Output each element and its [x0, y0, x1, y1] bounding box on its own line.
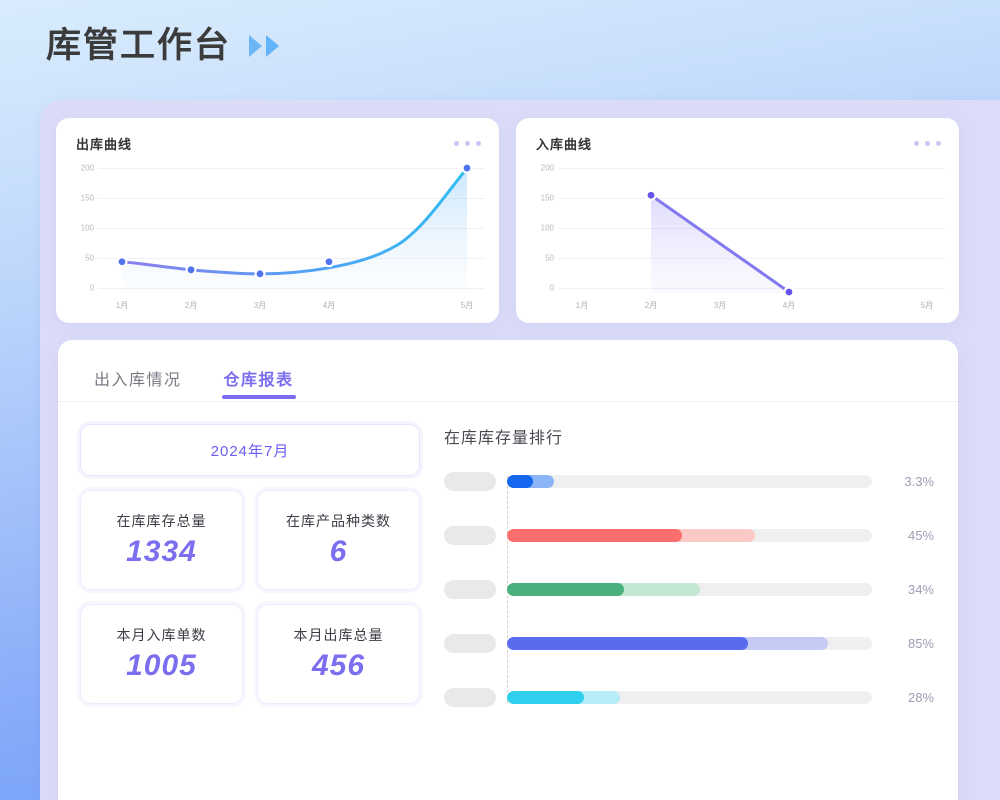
tab-bar: 出入库情况 仓库报表 — [58, 340, 958, 402]
page-title: 库管工作台 — [46, 28, 231, 63]
y-tick-label: 100 — [530, 224, 554, 233]
more-dots-icon[interactable] — [914, 141, 941, 146]
list-item[interactable]: 34% — [444, 576, 934, 603]
chart-header: 出库曲线 — [70, 134, 485, 153]
more-dots-icon[interactable] — [454, 141, 481, 146]
y-tick-label: 150 — [530, 194, 554, 203]
stat-card-total-stock[interactable]: 在库库存总量 1334 — [80, 490, 243, 590]
inbound-plot: 200 150 100 50 0 — [530, 164, 945, 309]
list-item[interactable]: 45% — [444, 522, 934, 549]
y-tick-label: 200 — [530, 164, 554, 173]
y-tick-label: 0 — [70, 284, 94, 293]
arrow-right-icon — [266, 35, 279, 57]
y-tick-label: 50 — [70, 254, 94, 263]
outbound-chart-card: 出库曲线 200 150 100 50 0 — [56, 118, 499, 323]
x-tick-label: 1月 — [116, 300, 128, 311]
x-tick-label: 2月 — [645, 300, 657, 311]
rank-percent: 85% — [884, 636, 934, 651]
tab-inout-status[interactable]: 出入库情况 — [94, 366, 182, 402]
stat-label: 在库产品种类数 — [286, 511, 391, 531]
progress-dark-segment — [507, 691, 584, 704]
list-item[interactable]: 85% — [444, 630, 934, 657]
x-tick-label: 3月 — [714, 300, 726, 311]
period-selector[interactable]: 2024年7月 — [80, 424, 420, 476]
progress-track — [507, 583, 872, 596]
outbound-plot: 200 150 100 50 0 — [70, 164, 485, 309]
chart-title: 出库曲线 — [76, 134, 132, 153]
stat-card-inbound-orders[interactable]: 本月入库单数 1005 — [80, 604, 243, 704]
stat-label: 本月入库单数 — [117, 625, 207, 645]
stat-card-product-types[interactable]: 在库产品种类数 6 — [257, 490, 420, 590]
tab-warehouse-report[interactable]: 仓库报表 — [224, 366, 294, 402]
charts-row: 出库曲线 200 150 100 50 0 — [56, 118, 959, 323]
stat-value: 6 — [330, 535, 348, 569]
report-panel: 出入库情况 仓库报表 2024年7月 在库库存总量 1334 在库产品种类数 6 — [58, 340, 958, 800]
y-tick-label: 200 — [70, 164, 94, 173]
list-item[interactable]: 28% — [444, 684, 934, 711]
arrow-right-icon — [249, 35, 262, 57]
stat-label: 本月出库总量 — [294, 625, 384, 645]
x-tick-label: 4月 — [323, 300, 335, 311]
list-item[interactable]: 3.3% — [444, 468, 934, 495]
progress-track — [507, 529, 872, 542]
rank-label-placeholder — [444, 688, 496, 707]
stat-label: 在库库存总量 — [117, 511, 207, 531]
progress-dark-segment — [507, 529, 682, 542]
rank-label-placeholder — [444, 580, 496, 599]
progress-track — [507, 637, 872, 650]
progress-dark-segment — [507, 583, 624, 596]
ranking-column: 在库库存量排行 3.3% — [420, 424, 958, 711]
x-tick-label: 5月 — [921, 300, 933, 311]
inbound-chart-card: 入库曲线 200 150 100 50 0 — [516, 118, 959, 323]
progress-track — [507, 691, 872, 704]
progress-dark-segment — [507, 475, 533, 488]
stats-column: 2024年7月 在库库存总量 1334 在库产品种类数 6 本月入库单数 100… — [80, 424, 420, 711]
chart-header: 入库曲线 — [530, 134, 945, 153]
inbound-line-svg — [558, 164, 945, 293]
rank-label-placeholder — [444, 634, 496, 653]
stat-value: 1005 — [126, 649, 197, 683]
rank-percent: 28% — [884, 690, 934, 705]
x-tick-label: 1月 — [576, 300, 588, 311]
tab-divider — [58, 401, 958, 402]
double-right-arrow-icon[interactable] — [249, 35, 279, 57]
x-tick-label: 4月 — [783, 300, 795, 311]
page-header: 库管工作台 — [46, 28, 279, 63]
stat-card-outbound-total[interactable]: 本月出库总量 456 — [257, 604, 420, 704]
x-tick-label: 2月 — [185, 300, 197, 311]
y-tick-label: 150 — [70, 194, 94, 203]
rank-label-placeholder — [444, 526, 496, 545]
dashboard-shell: 出库曲线 200 150 100 50 0 — [40, 100, 1000, 800]
rank-percent: 34% — [884, 582, 934, 597]
progress-track — [507, 475, 872, 488]
panel-body: 2024年7月 在库库存总量 1334 在库产品种类数 6 本月入库单数 100… — [58, 402, 958, 711]
x-tick-label: 3月 — [254, 300, 266, 311]
y-tick-label: 50 — [530, 254, 554, 263]
x-tick-label: 5月 — [461, 300, 473, 311]
rank-percent: 3.3% — [884, 474, 934, 489]
rank-label-placeholder — [444, 472, 496, 491]
chart-title: 入库曲线 — [536, 134, 592, 153]
stat-value: 1334 — [126, 535, 197, 569]
ranking-list: 3.3% 45% — [444, 468, 934, 711]
y-tick-label: 100 — [70, 224, 94, 233]
ranking-title: 在库库存量排行 — [444, 424, 934, 448]
progress-dark-segment — [507, 637, 748, 650]
outbound-line-svg — [98, 164, 485, 293]
stat-grid: 在库库存总量 1334 在库产品种类数 6 本月入库单数 1005 本月出库总量… — [80, 490, 420, 704]
y-tick-label: 0 — [530, 284, 554, 293]
rank-percent: 45% — [884, 528, 934, 543]
stat-value: 456 — [312, 649, 365, 683]
